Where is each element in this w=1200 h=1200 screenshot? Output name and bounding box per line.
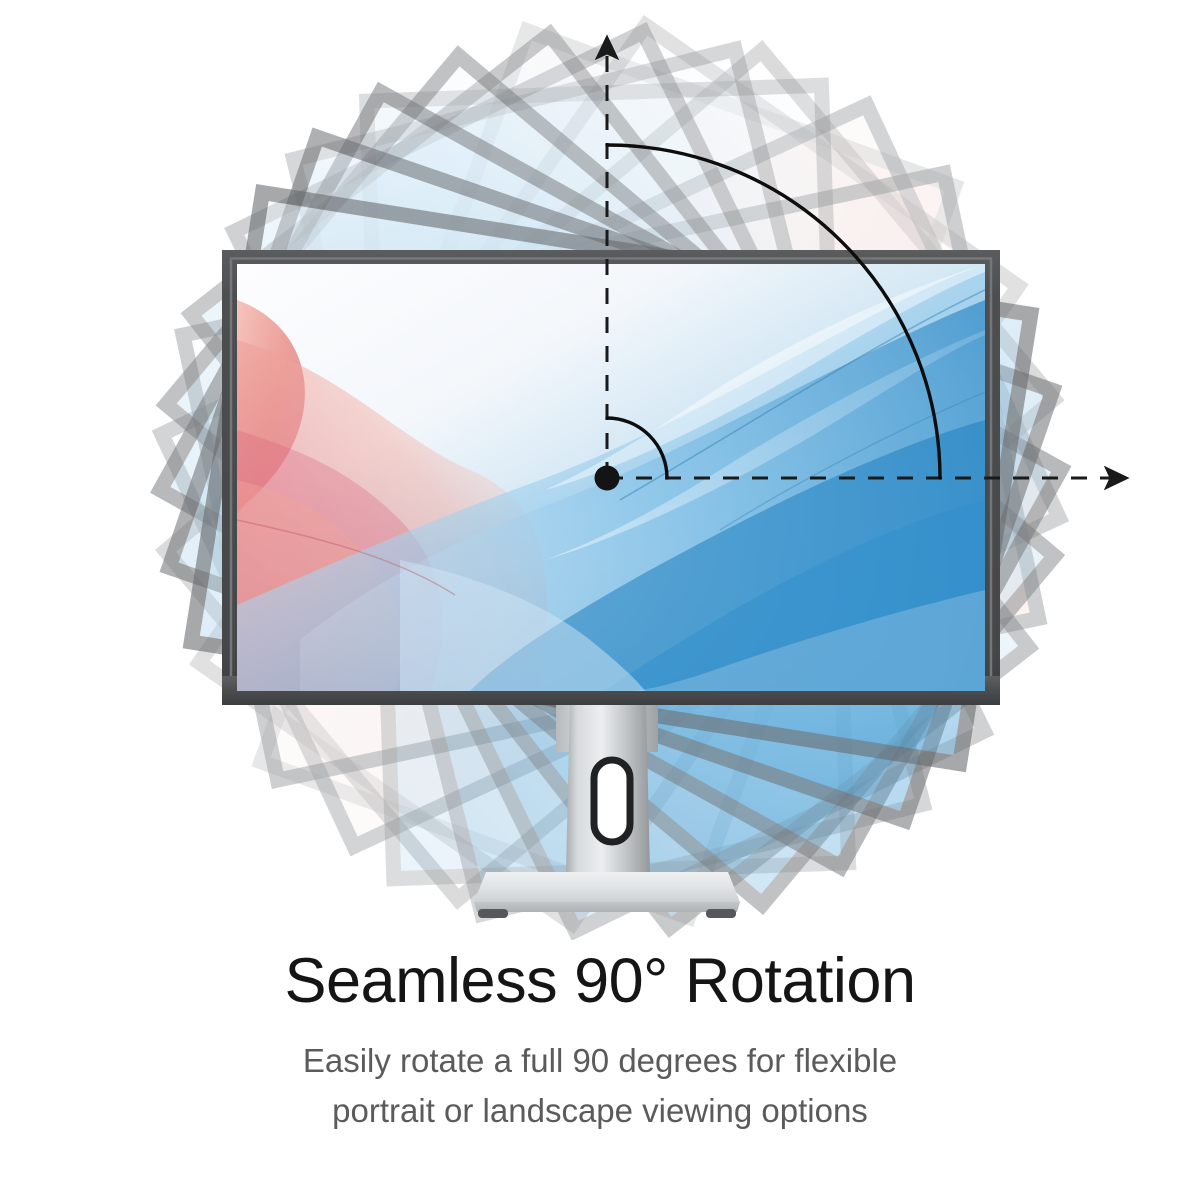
page-subtitle: Easily rotate a full 90 degrees for flex… [0, 1036, 1200, 1135]
base-foot-left [478, 909, 508, 918]
cable-management-hole [594, 760, 630, 842]
base-foot-right [706, 909, 736, 918]
rotation-pivot-point [595, 466, 620, 491]
subtitle-line-1: Easily rotate a full 90 degrees for flex… [120, 1036, 1080, 1086]
monitor-base [474, 872, 740, 918]
monitor-rotation-illustration [0, 0, 1200, 940]
subtitle-line-2: portrait or landscape viewing options [120, 1086, 1080, 1136]
caption-block: Seamless 90° Rotation Easily rotate a fu… [0, 948, 1200, 1135]
page-title: Seamless 90° Rotation [0, 948, 1200, 1014]
product-feature-page: Seamless 90° Rotation Easily rotate a fu… [0, 0, 1200, 1200]
